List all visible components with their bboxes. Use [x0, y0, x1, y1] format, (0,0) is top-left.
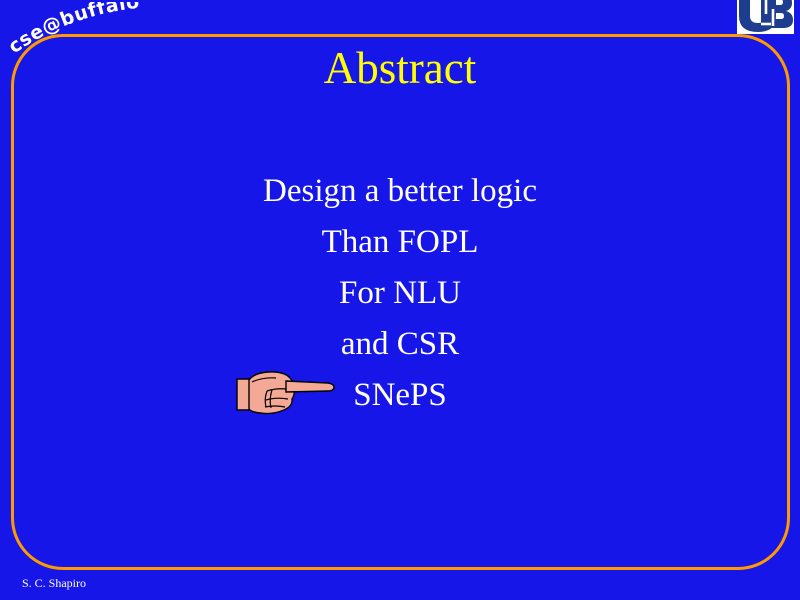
- body-line: Design a better logic: [0, 166, 800, 217]
- ub-logo-mark: [737, 0, 794, 34]
- body-line: For NLU: [0, 268, 800, 319]
- page-title: Abstract: [0, 41, 800, 95]
- slide-body: Design a better logic Than FOPL For NLU …: [0, 166, 800, 421]
- body-line: SNePS: [0, 370, 800, 421]
- footer-author: S. C. Shapiro: [22, 576, 86, 590]
- pointing-hand-icon: [236, 369, 340, 417]
- presentation-slide: cse@buffalo Abstract Design a better log…: [0, 0, 800, 600]
- body-line: Than FOPL: [0, 217, 800, 268]
- body-line: and CSR: [0, 319, 800, 370]
- ub-logo: [737, 0, 794, 34]
